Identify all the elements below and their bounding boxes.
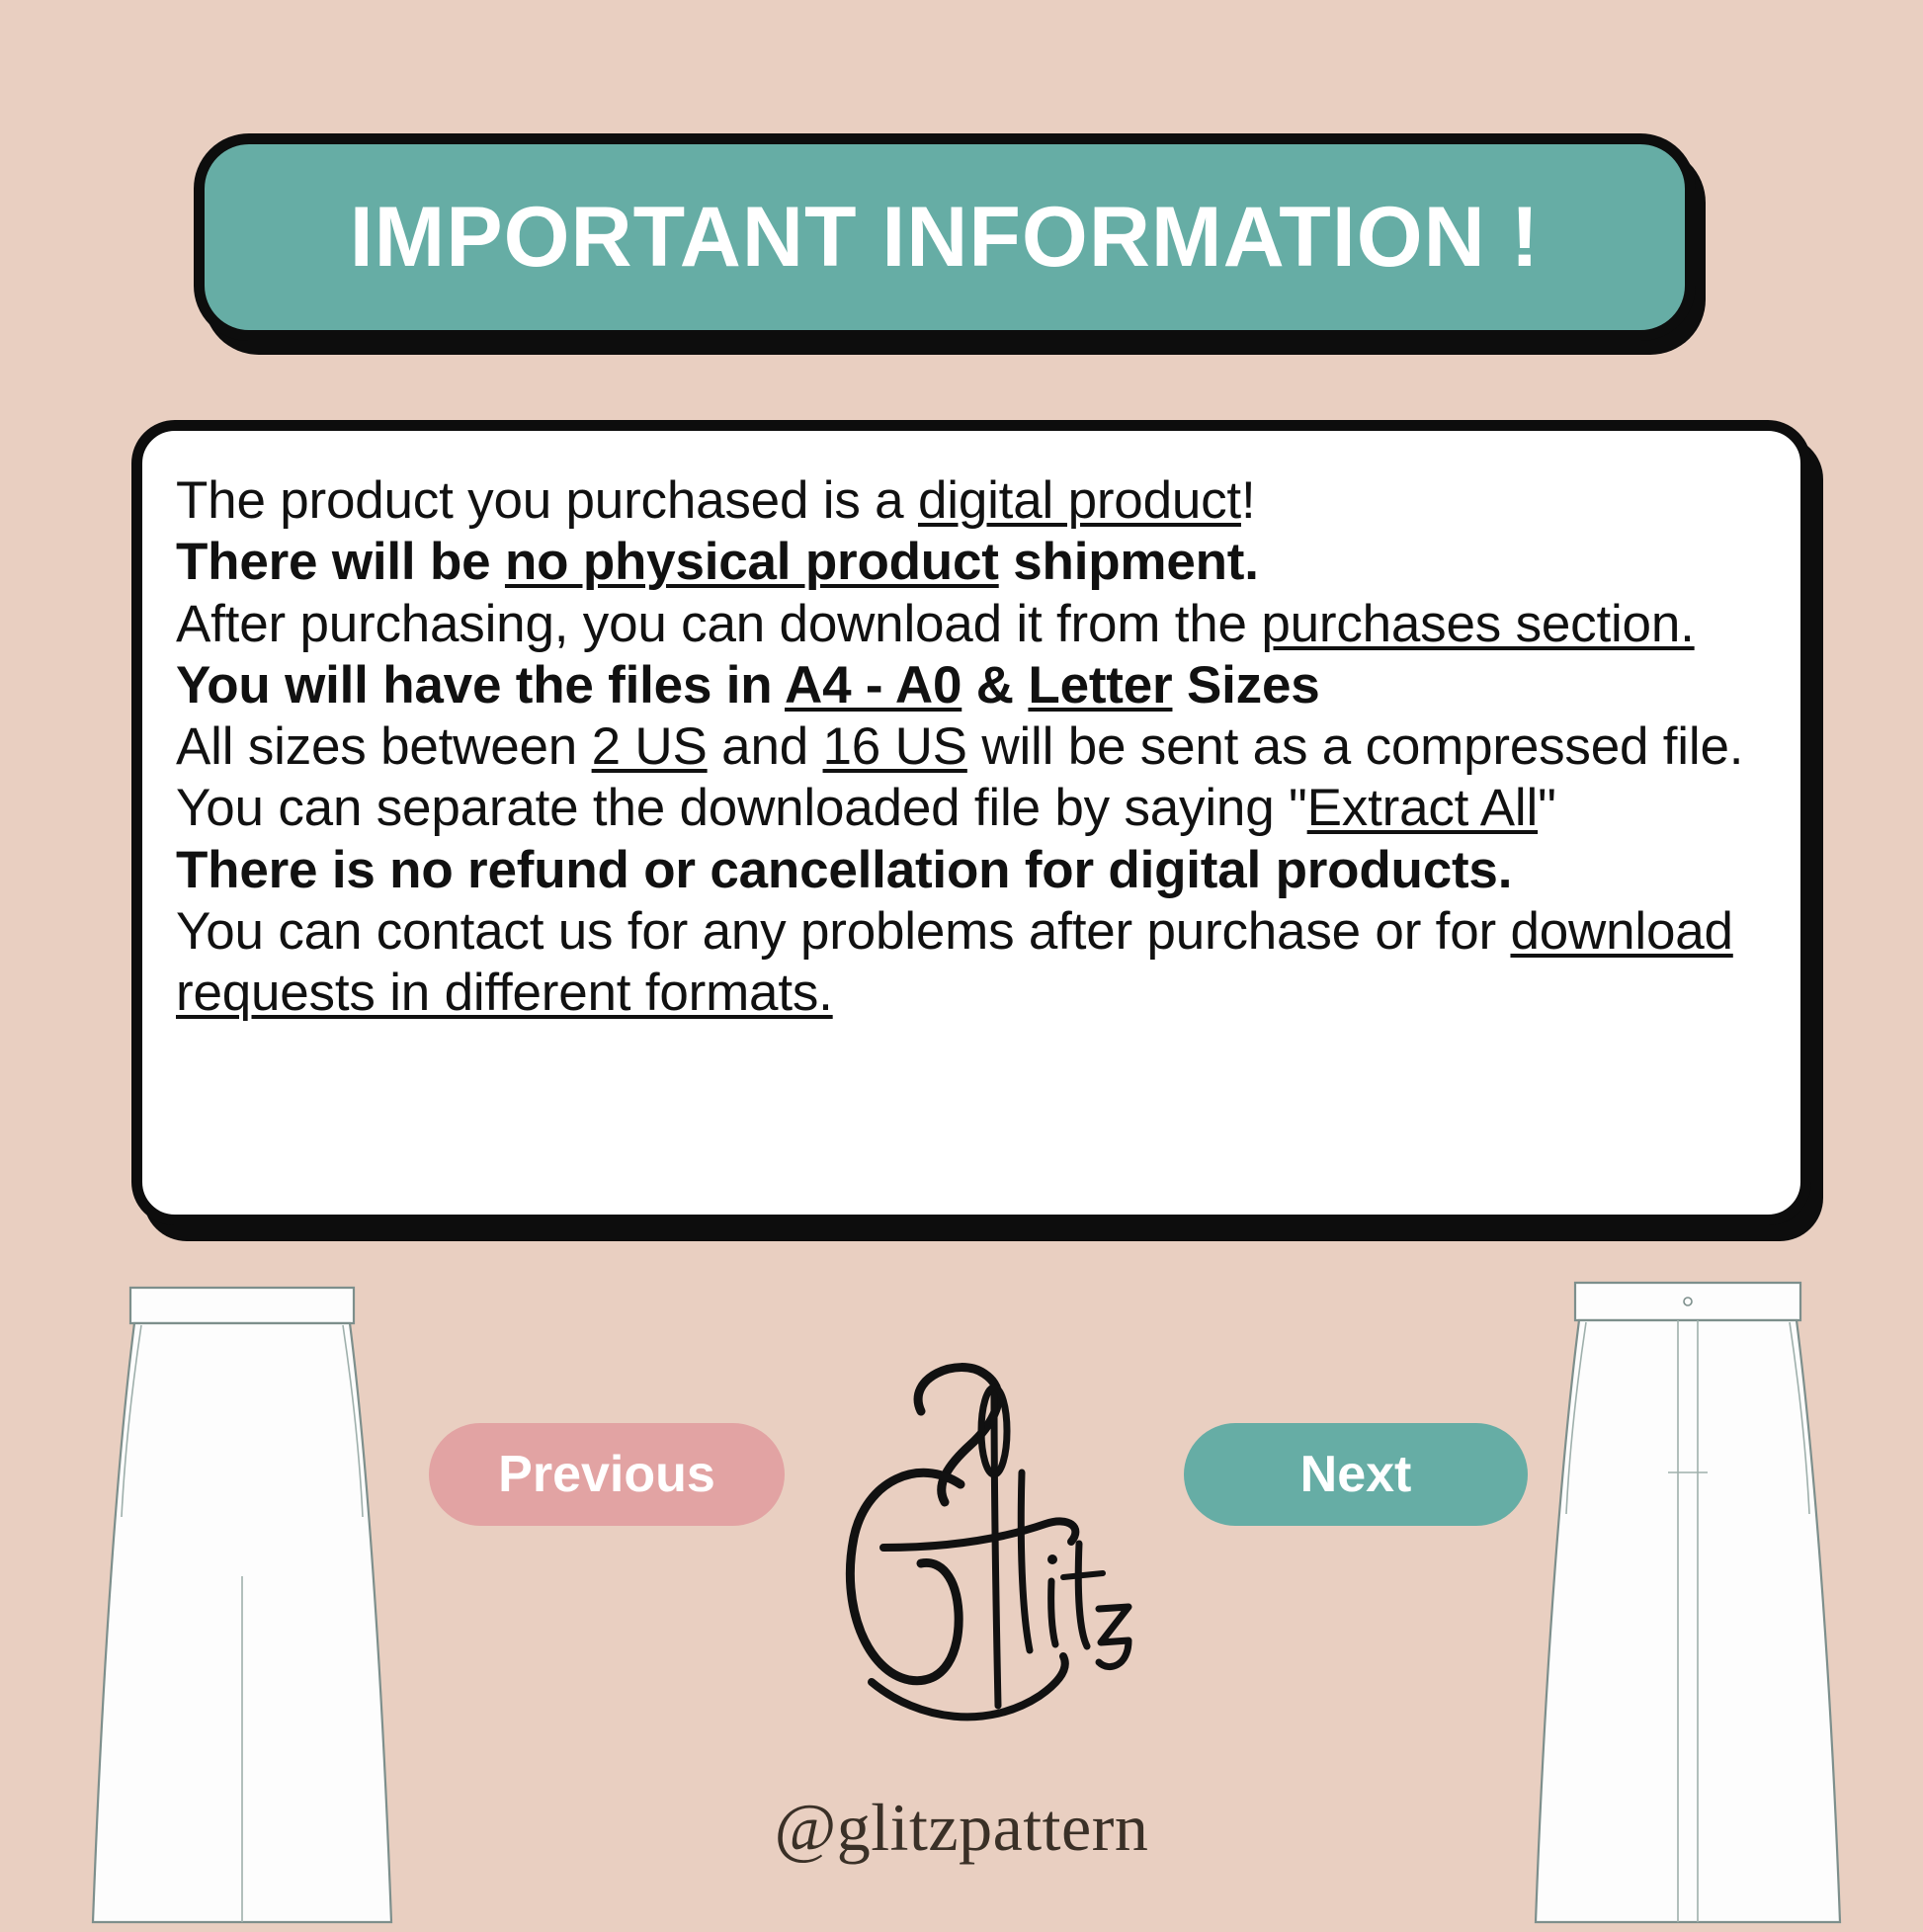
previous-button[interactable]: Previous (429, 1423, 785, 1526)
plain-text: and (708, 717, 823, 776)
important-information-banner: IMPORTANT INFORMATION ! (194, 133, 1696, 341)
emphasis-text: purchases section. (1261, 595, 1694, 653)
emphasis-text: no physical product (505, 533, 999, 591)
emphasis-text: Extract All (1307, 779, 1538, 837)
plain-text: The product you purchased is a (176, 471, 918, 530)
plain-text: & (961, 656, 1028, 714)
page-title: IMPORTANT INFORMATION ! (350, 195, 1541, 280)
glitz-script-logo-icon (810, 1354, 1136, 1759)
plain-text: After purchasing, you can download it fr… (176, 595, 1261, 653)
information-line: There is no refund or cancellation for d… (176, 840, 1767, 901)
next-button-label: Next (1300, 1445, 1412, 1504)
information-text-body: The product you purchased is a digital p… (176, 470, 1767, 1024)
emphasis-text: A4 - A0 (785, 656, 961, 714)
plain-text: Sizes (1172, 656, 1319, 714)
plain-text: You will have the files in (176, 656, 785, 714)
information-card: The product you purchased is a digital p… (131, 420, 1811, 1225)
information-line: You can contact us for any problems afte… (176, 901, 1767, 1025)
plain-text: All sizes between (176, 717, 592, 776)
information-line: After purchasing, you can download it fr… (176, 594, 1767, 655)
plain-text: There will be (176, 533, 505, 591)
plain-text: You can contact us for any problems afte… (176, 902, 1510, 961)
information-line: There will be no physical product shipme… (176, 532, 1767, 593)
plain-text: ! (1241, 471, 1256, 530)
information-line: All sizes between 2 US and 16 US will be… (176, 716, 1767, 840)
emphasis-text: 16 US (823, 717, 967, 776)
previous-button-label: Previous (498, 1445, 715, 1504)
plain-text: " (1538, 779, 1556, 837)
emphasis-text: 2 US (592, 717, 708, 776)
emphasis-text: digital product (918, 471, 1241, 530)
plain-text: shipment. (999, 533, 1259, 591)
emphasis-text: Letter (1028, 656, 1172, 714)
plain-text: There is no refund or cancellation for d… (176, 841, 1512, 899)
information-line: The product you purchased is a digital p… (176, 470, 1767, 532)
brand-handle: @glitzpattern (0, 1789, 1923, 1867)
next-button[interactable]: Next (1184, 1423, 1528, 1526)
information-line: You will have the files in A4 - A0 & Let… (176, 655, 1767, 716)
